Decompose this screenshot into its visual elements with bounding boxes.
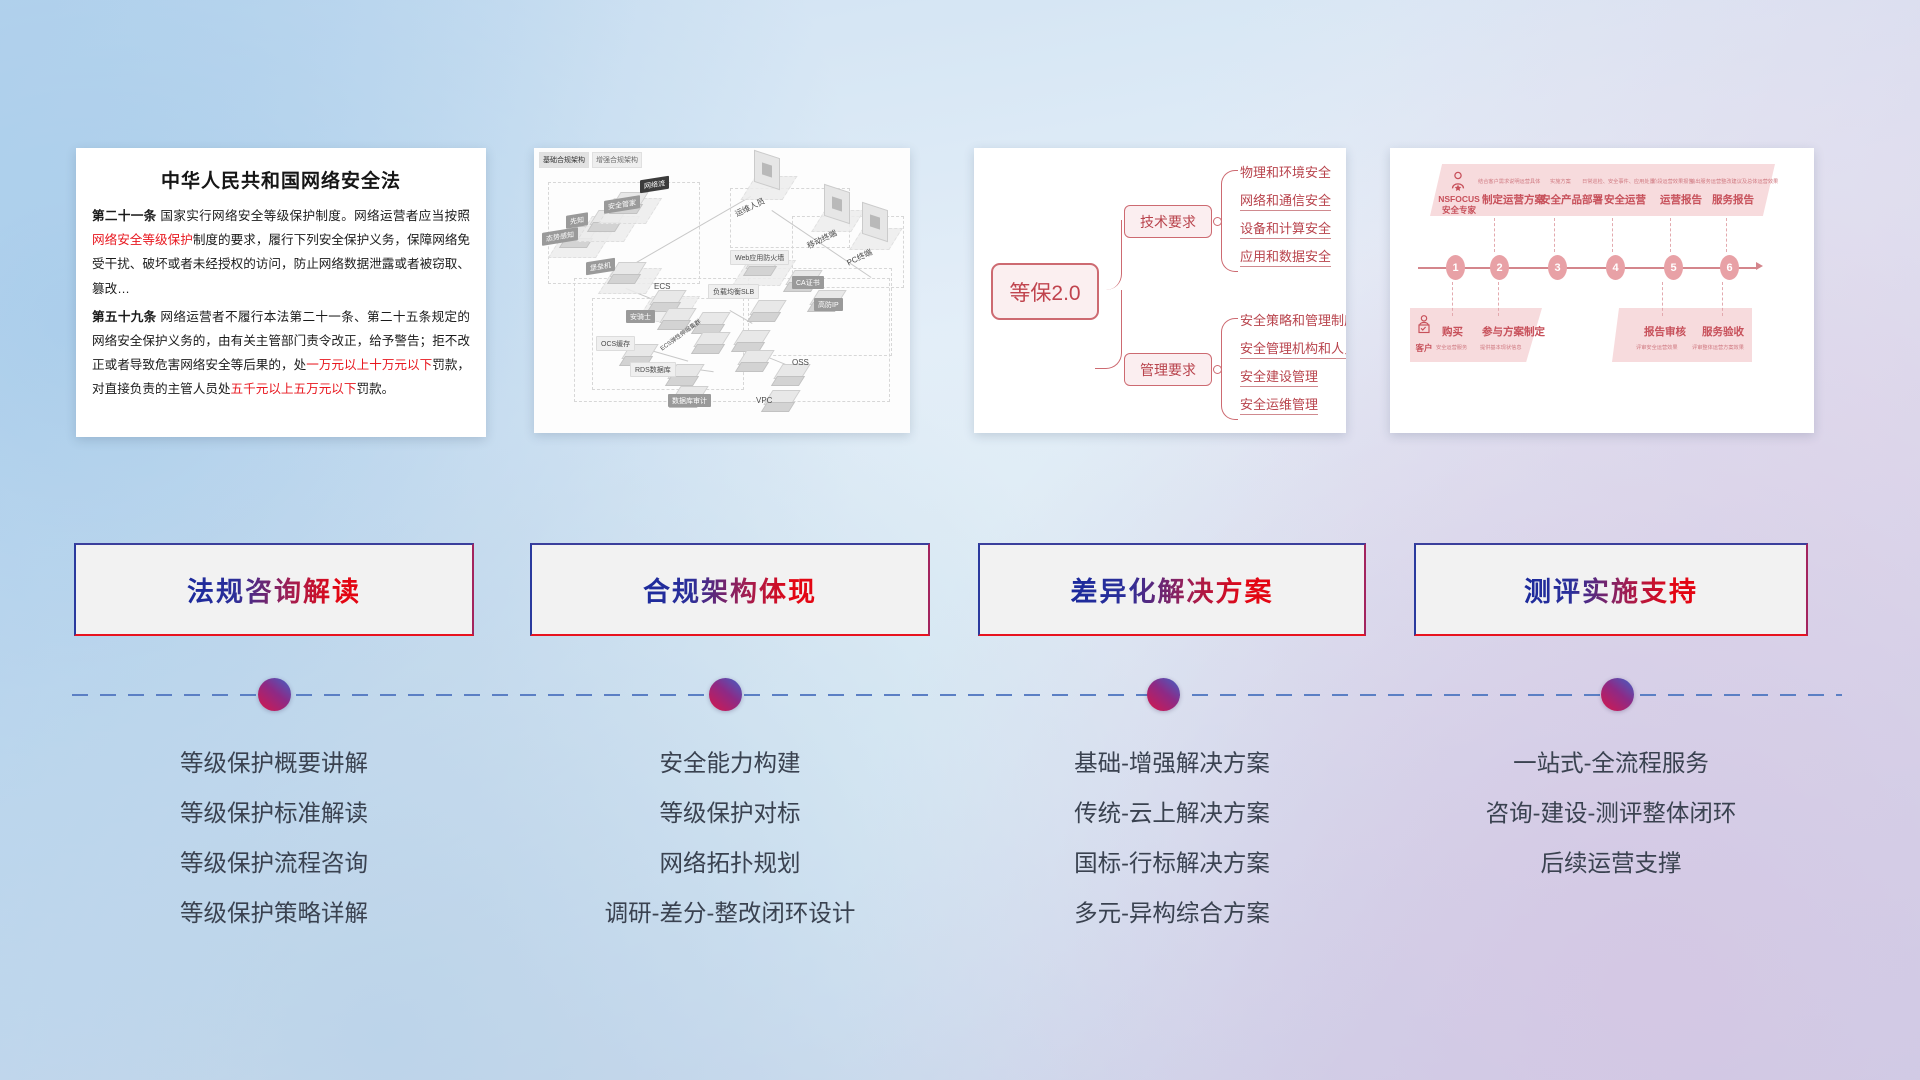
timeline-top-step-2-title: 安全产品部署 [1540, 192, 1603, 207]
timeline-top-step-3-sub: 日常巡检、安全事件、应用处置 [1582, 178, 1655, 185]
list-item: 咨询-建设-测评整体闭环 [1414, 788, 1808, 838]
timeline-top-step-3-title: 安全运营 [1604, 192, 1646, 207]
list-item: 等级保护概要讲解 [74, 738, 474, 788]
timeline-dash-6 [1726, 218, 1727, 252]
list-item: 后续运营支撑 [1414, 838, 1808, 888]
label-ecs: ECS [654, 282, 670, 291]
icon-oss [774, 364, 800, 384]
column-list-2: 安全能力构建 等级保护对标 网络拓扑规划 调研-差分-整改闭环设计 [530, 738, 930, 938]
timeline-axis [1418, 267, 1758, 269]
column-title-box-2[interactable]: 合规架构体现 [530, 543, 930, 636]
timeline-top-step-5-title: 服务报告 [1712, 192, 1754, 207]
timeline-node-6[interactable]: 6 [1720, 255, 1739, 280]
list-item: 等级保护标准解读 [74, 788, 474, 838]
customer-person-icon [1414, 314, 1434, 336]
mindmap-fan-tech [1221, 170, 1238, 272]
timeline-dash-b1 [1452, 282, 1453, 316]
column-title-box-1[interactable]: 法规咨询解读 [74, 543, 474, 636]
timeline-top-step-2-sub: 实施方案 [1550, 178, 1571, 185]
list-item: 安全能力构建 [530, 738, 930, 788]
icon-ecs-cluster-2 [694, 332, 720, 352]
mindmap-leaf-mgmt-1: 安全策略和管理制度 [1240, 310, 1346, 330]
timeline-bottom-step-2-title: 参与方案制定 [1482, 324, 1545, 339]
label-rds: RDS数据库 [630, 362, 676, 377]
mindmap-link-root-mgmt [1095, 290, 1122, 369]
mindmap-leaf-tech-3: 设备和计算安全 [1240, 218, 1331, 239]
timeline-node-1[interactable]: 1 [1446, 255, 1465, 280]
timeline-node-5[interactable]: 5 [1664, 255, 1683, 280]
law-article-59-text-c: 罚款。 [356, 382, 394, 396]
card-law-document[interactable]: 中华人民共和国网络安全法 第二十一条 国家实行网络安全等级保护制度。网络运营者应… [76, 148, 486, 437]
law-article-59-highlight-2: 五千元以上五万元以下 [231, 382, 357, 396]
timeline-top-step-5-sub: 输出服务运营整改建议及总体运营效果 [1690, 178, 1778, 185]
mindmap-branch-mgmt: 管理要求 [1124, 353, 1212, 386]
list-item: 一站式-全流程服务 [1414, 738, 1808, 788]
timeline-node-4[interactable]: 4 [1606, 255, 1625, 280]
timeline-role-expert-line1: NSFOCUS [1432, 194, 1486, 205]
mindmap-leaf-mgmt-3: 安全建设管理 [1240, 366, 1318, 387]
column-title-box-4[interactable]: 测评实施支持 [1414, 543, 1808, 636]
list-item: 等级保护流程咨询 [74, 838, 474, 888]
timeline-bottom-step-4-title: 服务验收 [1702, 324, 1744, 339]
timeline-dash-b2 [1498, 282, 1499, 316]
column-title-3: 差异化解决方案 [1071, 570, 1274, 609]
icon-ecs-cluster-4 [738, 350, 764, 370]
icon-slb [750, 300, 776, 320]
rail-dot-1[interactable] [258, 678, 291, 711]
mindmap-leaf-tech-2: 网络和通信安全 [1240, 190, 1331, 211]
label-anti-ddos: 高防IP [814, 298, 843, 311]
architecture-canvas: 网络流 安全管家 先知 态势感知 堡垒机 运维人员 移动终端 PC终端 Web应… [534, 148, 910, 433]
mindmap-leaf-tech-4: 应用和数据安全 [1240, 246, 1331, 267]
timeline-bottom-step-4-sub: 评审整体运营方案效果 [1692, 344, 1744, 351]
column-list-1: 等级保护概要讲解 等级保护标准解读 等级保护流程咨询 等级保护策略详解 [74, 738, 474, 938]
timeline-bottom-step-2-sub: 提供基本现状信息 [1480, 344, 1522, 351]
law-article-21-highlight: 网络安全等级保护 [92, 233, 193, 247]
mindmap: 等保2.0 技术要求 管理要求 物理和环境安全 网络和通信安全 设备和计算安全 … [974, 148, 1346, 433]
timeline-node-2[interactable]: 2 [1490, 255, 1509, 280]
icon-ecs [650, 290, 676, 310]
timeline-bottom-step-1-title: 购买 [1442, 324, 1463, 339]
preview-cards-row: 中华人民共和国网络安全法 第二十一条 国家实行网络安全等级保护制度。网络运营者应… [0, 148, 1920, 440]
mindmap-leaf-mgmt-4: 安全运维管理 [1240, 394, 1318, 415]
rail-dot-3[interactable] [1147, 678, 1180, 711]
mindmap-fan-mgmt [1221, 318, 1238, 420]
timeline-dash-3 [1554, 218, 1555, 252]
card-service-timeline[interactable]: NSFOCUS 安全专家 客户 制定运营方案 结合客户需求说明运营具体 安全产品… [1390, 148, 1814, 433]
column-title-2: 合规架构体现 [643, 570, 817, 609]
law-document-body: 中华人民共和国网络安全法 第二十一条 国家实行网络安全等级保护制度。网络运营者应… [76, 148, 486, 437]
label-anqishi: 安骑士 [626, 310, 655, 323]
service-timeline: NSFOCUS 安全专家 客户 制定运营方案 结合客户需求说明运营具体 安全产品… [1390, 148, 1814, 433]
timeline-top-step-1-sub: 结合客户需求说明运营具体 [1478, 178, 1540, 185]
list-item: 等级保护策略详解 [74, 888, 474, 938]
label-slb: 负载均衡SLB [708, 284, 759, 299]
label-db-audit: 数据库审计 [668, 394, 711, 407]
timeline-rail [72, 694, 1842, 696]
timeline-top-step-4-title: 运营报告 [1660, 192, 1702, 207]
label-waf: Web应用防火墙 [730, 250, 789, 265]
icon-ecs-cluster-3 [734, 330, 760, 350]
timeline-dash-b5 [1662, 282, 1663, 316]
timeline-dash-4 [1612, 218, 1613, 252]
mindmap-leaf-mgmt-2: 安全管理机构和人员 [1240, 338, 1346, 359]
label-ca-cert: CA证书 [792, 276, 824, 289]
label-oss: OSS [792, 358, 809, 367]
timeline-dash-2 [1494, 218, 1495, 252]
law-article-21-text-a: 国家实行网络安全等级保护制度。网络运营者应当按照 [160, 209, 470, 223]
column-title-box-3[interactable]: 差异化解决方案 [978, 543, 1366, 636]
law-article-label-59: 第五十九条 [92, 310, 157, 324]
label-ocs-cache: OCS缓存 [596, 336, 635, 351]
column-title-4: 测评实施支持 [1524, 570, 1698, 609]
timeline-bottom-step-3-sub: 评审安全运营效果 [1636, 344, 1678, 351]
law-article-label-21: 第二十一条 [92, 209, 157, 223]
timeline-arrow-icon [1756, 262, 1763, 270]
law-paragraph-59: 第五十九条 网络运营者不履行本法第二十一条、第二十五条规定的网络安全保护义务的，… [92, 305, 470, 402]
rail-dot-2[interactable] [709, 678, 742, 711]
timeline-top-step-1-title: 制定运营方案 [1482, 192, 1545, 207]
timeline-node-3[interactable]: 3 [1548, 255, 1567, 280]
list-item: 调研-差分-整改闭环设计 [530, 888, 930, 938]
list-item: 基础-增强解决方案 [978, 738, 1366, 788]
column-title-1: 法规咨询解读 [187, 570, 361, 609]
card-cloud-architecture[interactable]: 基础合规架构 增强合规架构 [534, 148, 910, 433]
card-mindmap-dengbao[interactable]: 等保2.0 技术要求 管理要求 物理和环境安全 网络和通信安全 设备和计算安全 … [974, 148, 1346, 433]
timeline-top-step-4-sub: 阶段运营效果报告 [1652, 178, 1694, 185]
timeline-role-customer: 客户 [1410, 342, 1438, 354]
icon-anqishi [660, 308, 686, 328]
list-item: 国标-行标解决方案 [978, 838, 1366, 888]
law-article-59-highlight-1: 一万元以上十万元以下 [306, 358, 432, 372]
timeline-bottom-step-3-title: 报告审核 [1644, 324, 1686, 339]
law-paragraph-21: 第二十一条 国家实行网络安全等级保护制度。网络运营者应当按照网络安全等级保护制度… [92, 204, 470, 301]
mindmap-link-root-tech [1095, 220, 1122, 290]
architecture-diagram: 基础合规架构 增强合规架构 [534, 148, 910, 433]
mindmap-leaf-tech-1: 物理和环境安全 [1240, 162, 1331, 182]
column-list-4: 一站式-全流程服务 咨询-建设-测评整体闭环 后续运营支撑 [1414, 738, 1808, 888]
label-vpc: VPC [756, 396, 772, 405]
mindmap-root-node: 等保2.0 [991, 263, 1099, 320]
mindmap-branch-tech: 技术要求 [1124, 205, 1212, 238]
list-item: 多元-异构综合方案 [978, 888, 1366, 938]
timeline-role-expert-line2: 安全专家 [1432, 205, 1486, 216]
column-list-3: 基础-增强解决方案 传统-云上解决方案 国标-行标解决方案 多元-异构综合方案 [978, 738, 1366, 938]
timeline-dash-5 [1670, 218, 1671, 252]
list-item: 网络拓扑规划 [530, 838, 930, 888]
timeline-dash-b6 [1722, 282, 1723, 316]
rail-dot-4[interactable] [1601, 678, 1634, 711]
timeline-bottom-step-1-sub: 安全运营服务 [1436, 344, 1467, 351]
list-item: 传统-云上解决方案 [978, 788, 1366, 838]
timeline-role-expert: NSFOCUS 安全专家 [1432, 194, 1486, 216]
law-title: 中华人民共和国网络安全法 [92, 166, 470, 193]
expert-person-icon [1447, 170, 1469, 192]
list-item: 等级保护对标 [530, 788, 930, 838]
